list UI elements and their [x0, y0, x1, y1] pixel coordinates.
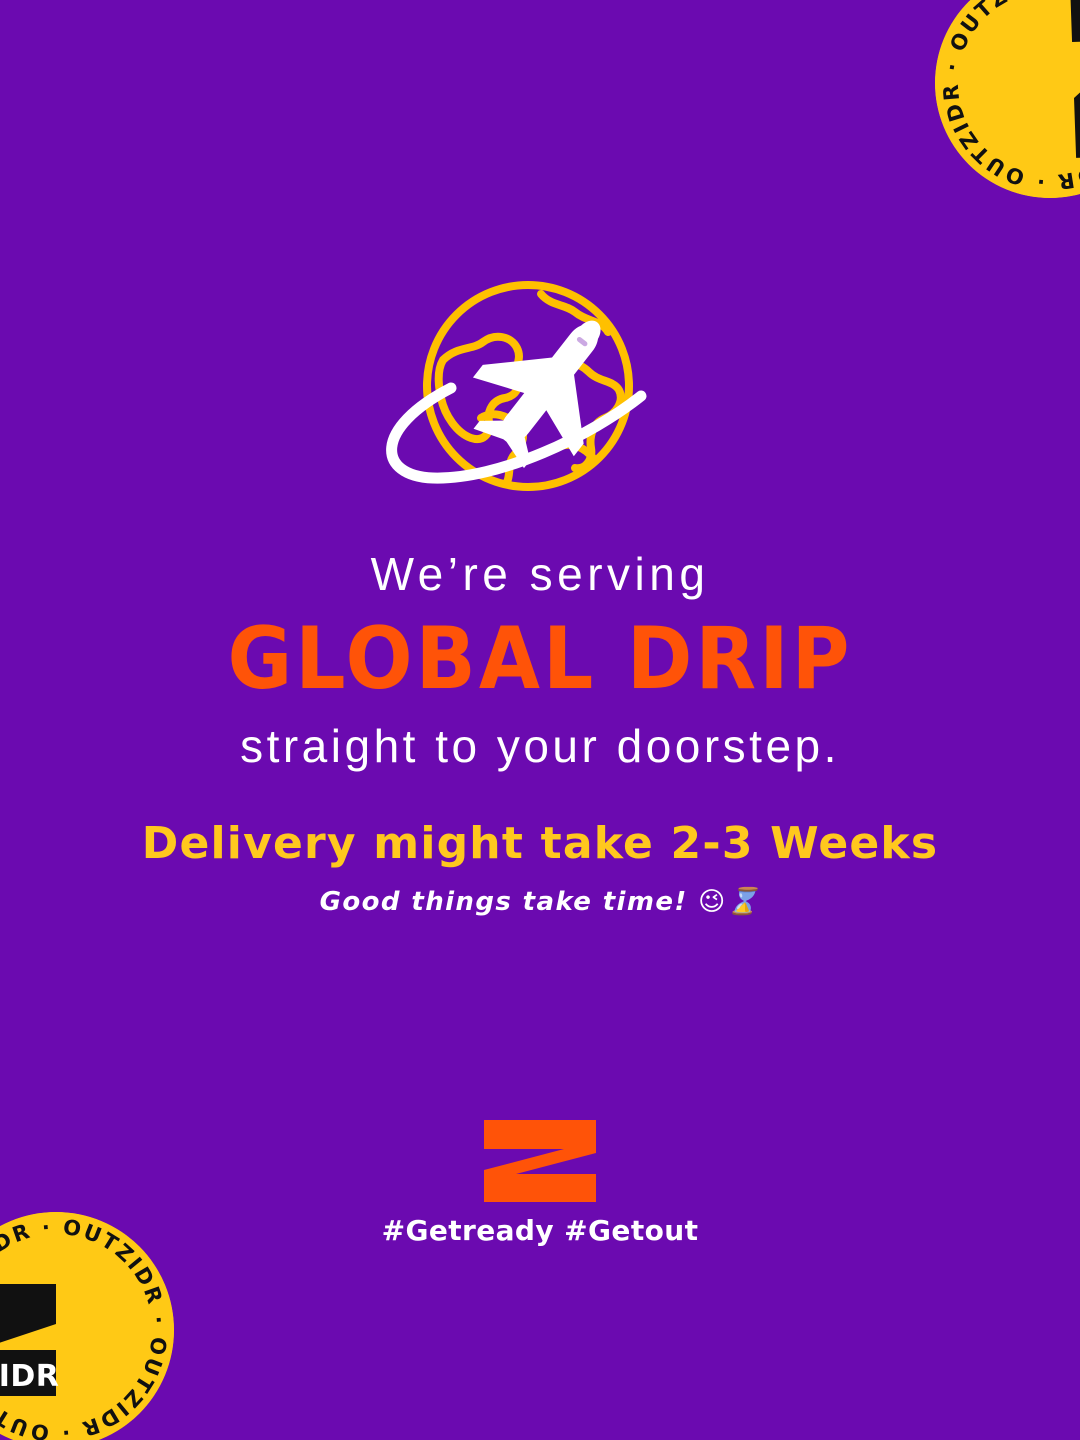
globe-with-airplane-icon	[0, 276, 1080, 508]
tagline-line-3: straight to your doorstep.	[0, 720, 1080, 773]
seal-center-label-bl: OUTZIDR	[0, 1359, 59, 1394]
delivery-headline: Delivery might take 2-3 Weeks	[0, 818, 1080, 871]
delivery-subtext: Good things take time! 😉⌛	[0, 887, 1080, 917]
headline-text: GLOBAL DRIP	[0, 609, 1080, 710]
outzidr-seal-top-right: OUTZIDR · OUTZIDR · OUTZIDR · OUTZIDR ·	[935, 0, 1080, 198]
poster-canvas: OUTZIDR · OUTZIDR · OUTZIDR · OUTZIDR · …	[0, 0, 1080, 1440]
hashtags-text: #Getready #Getout	[0, 1214, 1080, 1247]
delivery-notice-block: Delivery might take 2-3 Weeks Good thing…	[0, 818, 1080, 917]
footer-block: #Getready #Getout	[0, 1118, 1080, 1247]
tagline-line-1: We’re serving	[0, 548, 1080, 601]
headline-copy-block: We’re serving GLOBAL DRIP straight to yo…	[0, 548, 1080, 773]
outzidr-z-logo	[478, 1118, 602, 1204]
